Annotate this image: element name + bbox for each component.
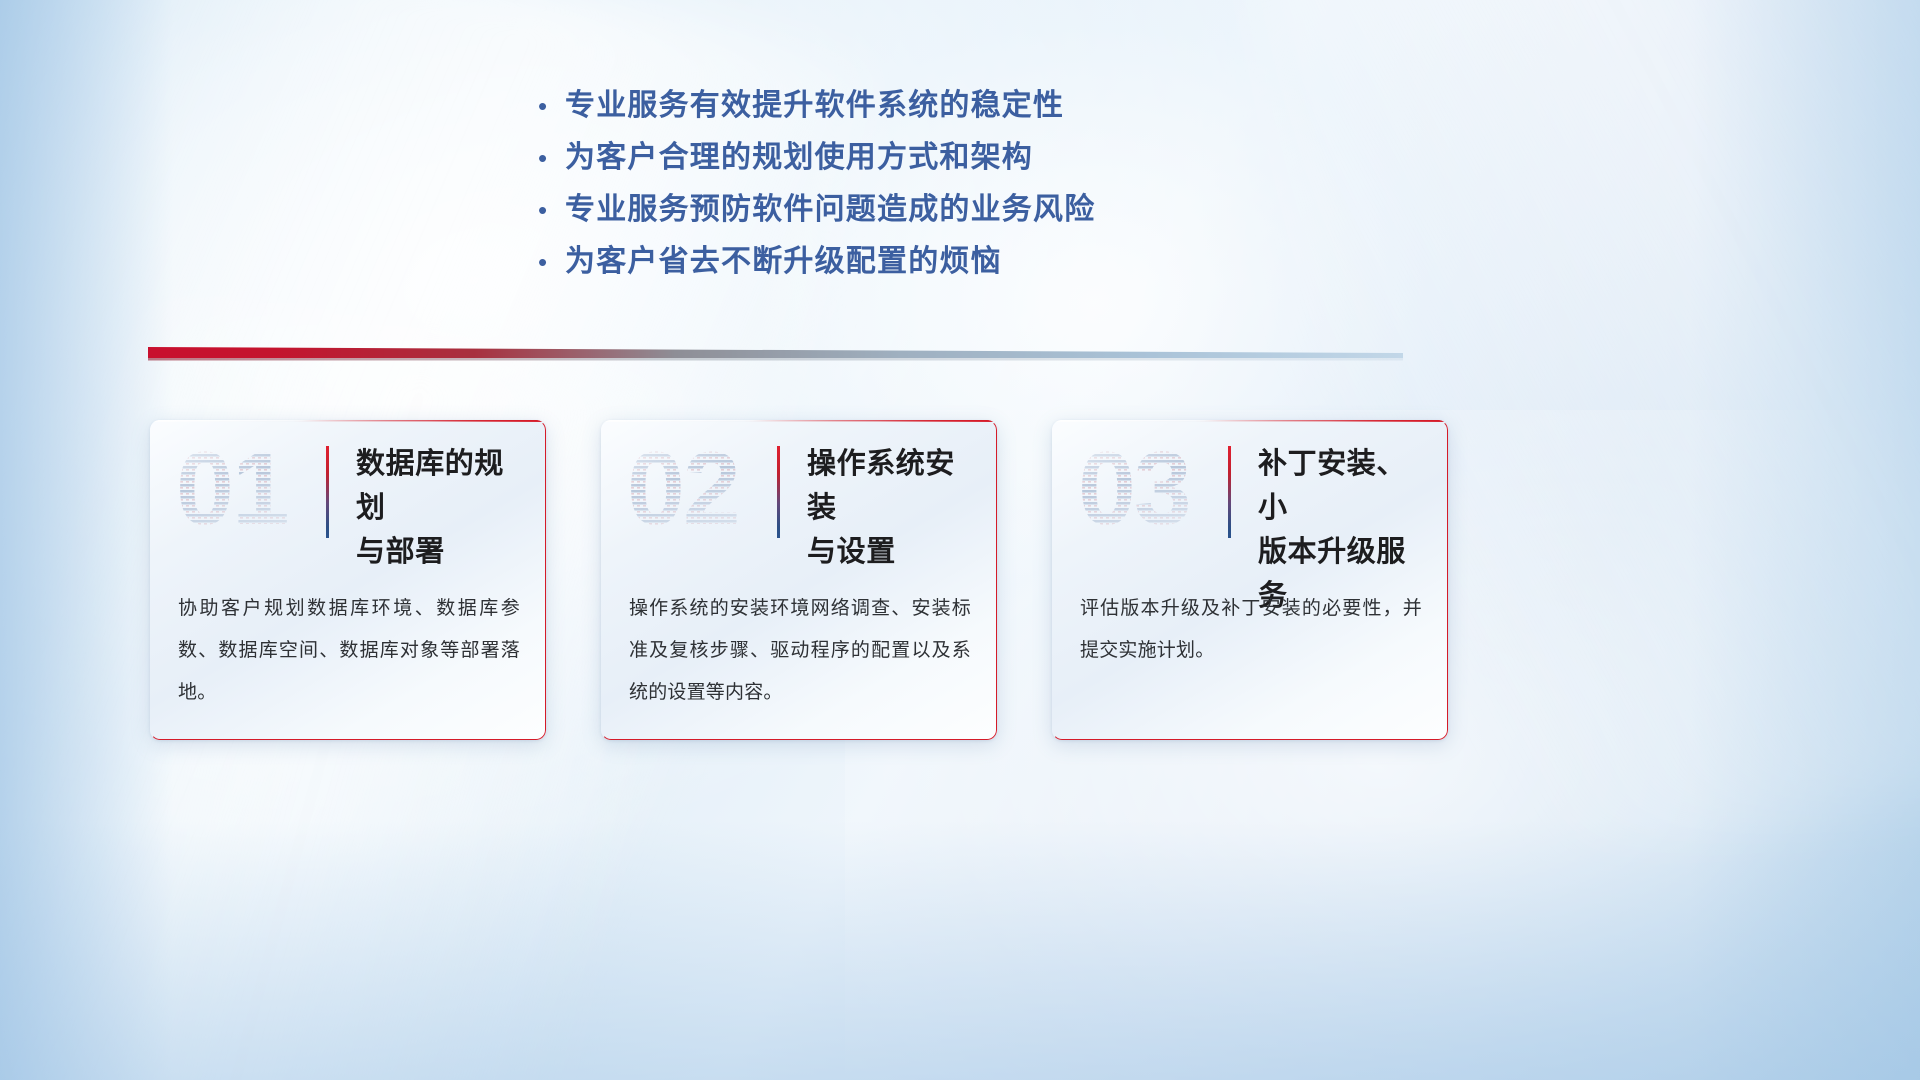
service-card-01[interactable]: 01 数据库的规划 与部署 协助客户规划数据库环境、数据库参数、数据库空间、数据… xyxy=(150,420,546,740)
card-divider-bar xyxy=(1228,446,1231,538)
card-divider-bar xyxy=(326,446,329,538)
card-title-line2: 与部署 xyxy=(356,530,531,574)
card-header: 02 操作系统安装 与设置 xyxy=(601,420,997,580)
bullet-dot-icon: • xyxy=(533,242,565,282)
bullet-text: 专业服务预防软件问题造成的业务风险 xyxy=(565,190,1095,230)
card-description: 操作系统的安装环境网络调查、安装标准及复核步骤、驱动程序的配置以及系统的设置等内… xyxy=(629,588,971,714)
service-card-03[interactable]: 03 补丁安装、小 版本升级服务 评估版本升级及补丁安装的必要性，并提交实施计划… xyxy=(1052,420,1448,740)
card-number-02-graphic: 02 xyxy=(625,442,765,540)
bullet-text: 专业服务有效提升软件系统的稳定性 xyxy=(565,86,1064,126)
service-card-02[interactable]: 02 操作系统安装 与设置 操作系统的安装环境网络调查、安装标准及复核步骤、驱动… xyxy=(601,420,997,740)
bullet-dot-icon: • xyxy=(533,138,565,178)
card-title: 数据库的规划 与部署 xyxy=(356,442,531,574)
card-title-line1: 操作系统安装 xyxy=(807,442,982,530)
card-header: 03 补丁安装、小 版本升级服务 xyxy=(1052,420,1448,580)
section-divider xyxy=(148,345,1403,367)
background-edge-bottom xyxy=(0,821,1920,1080)
bullet-text: 为客户省去不断升级配置的烦恼 xyxy=(565,242,1002,282)
benefits-bullet-list: • 专业服务有效提升软件系统的稳定性 • 为客户合理的规划使用方式和架构 • 专… xyxy=(533,86,1233,294)
card-number-01-graphic: 01 xyxy=(174,442,314,540)
svg-text:01: 01 xyxy=(176,442,288,540)
card-number-03-graphic: 03 xyxy=(1076,442,1216,540)
card-title-line2: 与设置 xyxy=(807,530,982,574)
service-card-group: 01 数据库的规划 与部署 协助客户规划数据库环境、数据库参数、数据库空间、数据… xyxy=(150,420,1450,745)
list-item: • 专业服务有效提升软件系统的稳定性 xyxy=(533,86,1233,138)
card-title: 操作系统安装 与设置 xyxy=(807,442,982,574)
svg-text:03: 03 xyxy=(1078,442,1190,540)
card-header: 01 数据库的规划 与部署 xyxy=(150,420,546,580)
card-description: 协助客户规划数据库环境、数据库参数、数据库空间、数据库对象等部署落地。 xyxy=(178,588,520,714)
svg-text:02: 02 xyxy=(627,442,739,540)
card-divider-bar xyxy=(777,446,780,538)
list-item: • 专业服务预防软件问题造成的业务风险 xyxy=(533,190,1233,242)
list-item: • 为客户合理的规划使用方式和架构 xyxy=(533,138,1233,190)
list-item: • 为客户省去不断升级配置的烦恼 xyxy=(533,242,1233,294)
card-title-line1: 数据库的规划 xyxy=(356,442,531,530)
card-description: 评估版本升级及补丁安装的必要性，并提交实施计划。 xyxy=(1080,588,1422,672)
bullet-dot-icon: • xyxy=(533,86,565,126)
card-title-line1: 补丁安装、小 xyxy=(1258,442,1433,530)
bullet-text: 为客户合理的规划使用方式和架构 xyxy=(565,138,1033,178)
bullet-dot-icon: • xyxy=(533,190,565,230)
